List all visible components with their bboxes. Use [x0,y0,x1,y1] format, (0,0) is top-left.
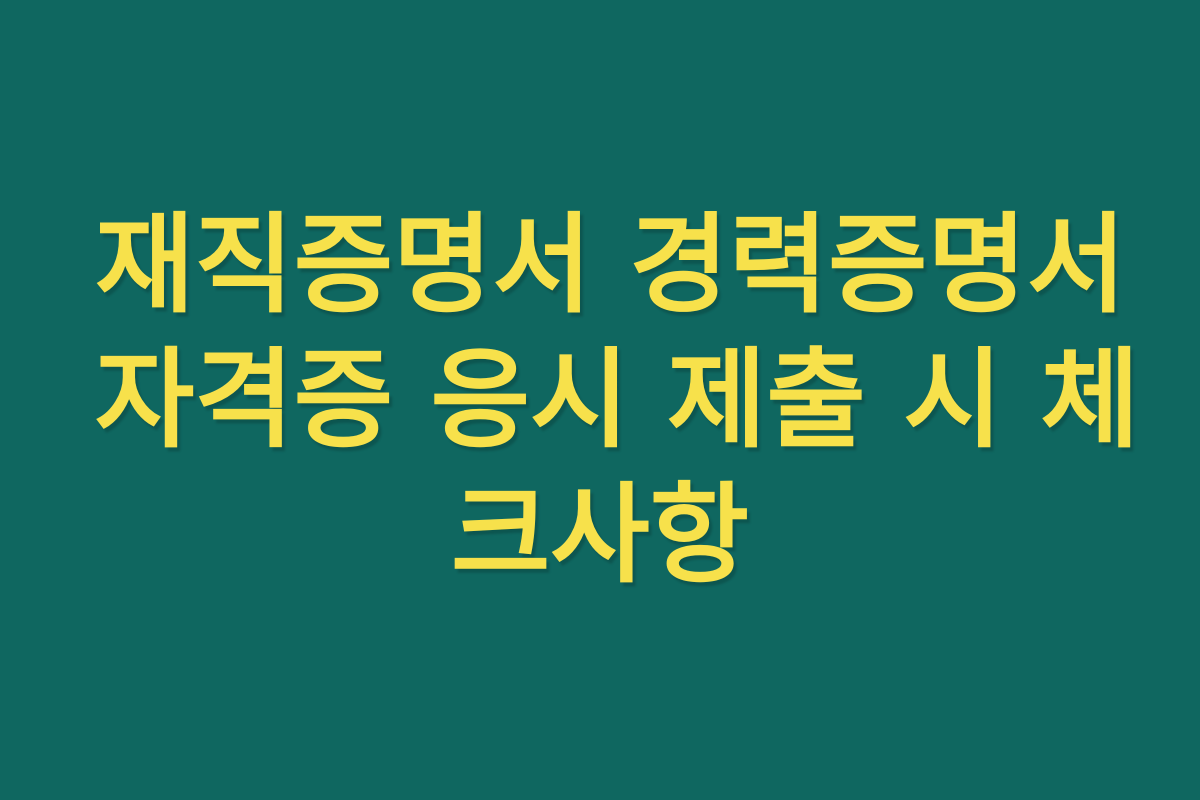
page-title: 재직증명서 경력증명서 자격증 응시 제출 시 체 크사항 [95,198,1105,603]
title-card: 재직증명서 경력증명서 자격증 응시 제출 시 체 크사항 [0,0,1200,800]
title-line-3: 크사항 [95,468,1105,603]
title-line-2: 자격증 응시 제출 시 체 [95,333,1105,468]
title-line-1: 재직증명서 경력증명서 [95,198,1105,333]
